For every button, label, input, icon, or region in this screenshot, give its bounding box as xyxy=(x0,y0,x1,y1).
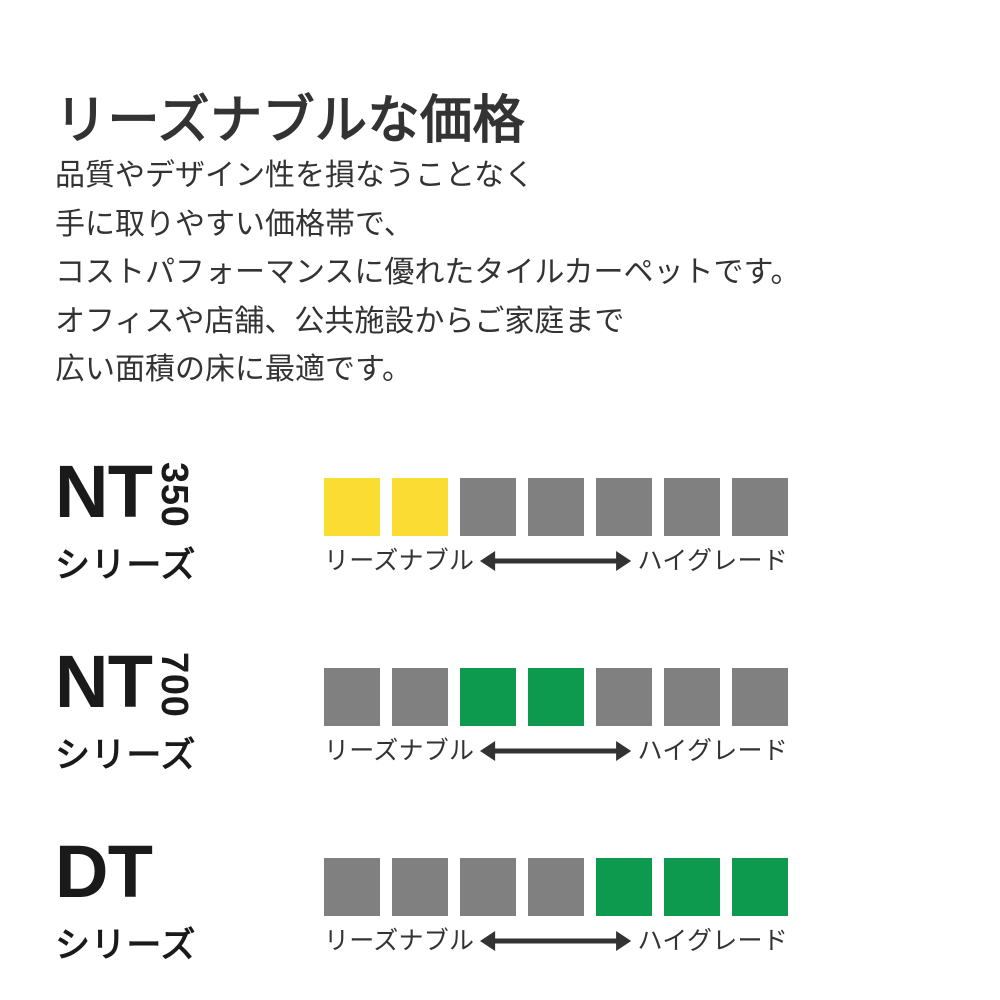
description-line-3: コストパフォーマンスに優れたタイルカーペットです。 xyxy=(55,249,801,298)
swatch-3 xyxy=(460,478,516,536)
scale-left-label: リーズナブル xyxy=(324,929,474,954)
grade-swatch-strip xyxy=(324,858,788,916)
grade-scale-caption: リーズナブル ハイグレード xyxy=(324,734,788,768)
series-sub-label: シリーズ xyxy=(55,548,196,583)
swatch-7 xyxy=(732,478,788,536)
scale-right-label: ハイグレード xyxy=(637,549,788,574)
infographic-page: リーズナブルな価格 品質やデザイン性を損なうことなく 手に取りやすい価格帯で、 … xyxy=(0,0,1000,1000)
series-label-nt350: NT 350 シリーズ xyxy=(55,460,305,590)
series-label-dt: DT シリーズ xyxy=(55,840,305,970)
swatch-7 xyxy=(732,858,788,916)
series-row-nt350: NT 350 シリーズ リーズナブル ハイグレード xyxy=(0,460,1000,590)
grade-swatch-strip xyxy=(324,668,788,726)
series-sub-label: シリーズ xyxy=(55,928,196,963)
double-arrow-horizontal-icon xyxy=(480,550,631,572)
description-text: 品質やデザイン性を損なうことなく 手に取りやすい価格帯で、 コストパフォーマンス… xyxy=(55,152,801,395)
swatch-2 xyxy=(392,478,448,536)
series-row-dt: DT シリーズ リーズナブル ハイグレード xyxy=(0,840,1000,970)
swatch-4 xyxy=(528,858,584,916)
swatch-1 xyxy=(324,478,380,536)
series-code-dt: DT xyxy=(55,840,152,914)
series-code-nt700: NT 700 xyxy=(55,650,193,724)
double-arrow-horizontal-icon xyxy=(480,740,631,762)
scale-right-label: ハイグレード xyxy=(637,739,788,764)
swatch-3 xyxy=(460,858,516,916)
swatch-7 xyxy=(732,668,788,726)
description-line-4: オフィスや店舗、公共施設からご家庭まで xyxy=(55,298,801,347)
series-code-main: NT xyxy=(55,650,152,714)
description-line-1: 品質やデザイン性を損なうことなく xyxy=(55,152,801,201)
double-arrow-horizontal-icon xyxy=(480,930,631,952)
swatch-4 xyxy=(528,478,584,536)
scale-left-label: リーズナブル xyxy=(324,549,474,574)
swatch-1 xyxy=(324,668,380,726)
grade-scale-caption: リーズナブル ハイグレード xyxy=(324,544,788,578)
swatch-2 xyxy=(392,858,448,916)
description-line-2: 手に取りやすい価格帯で、 xyxy=(55,201,801,250)
series-code-number: 700 xyxy=(155,652,193,724)
series-row-nt700: NT 700 シリーズ リーズナブル ハイグレード xyxy=(0,650,1000,780)
series-code-nt350: NT 350 xyxy=(55,460,193,534)
scale-right-label: ハイグレード xyxy=(637,929,788,954)
series-label-nt700: NT 700 シリーズ xyxy=(55,650,305,780)
swatch-6 xyxy=(664,858,720,916)
grade-scale-caption: リーズナブル ハイグレード xyxy=(324,924,788,958)
description-line-5: 広い面積の床に最適です。 xyxy=(55,346,801,395)
swatch-2 xyxy=(392,668,448,726)
swatch-5 xyxy=(596,478,652,536)
swatch-4 xyxy=(528,668,584,726)
series-code-main: DT xyxy=(55,840,152,904)
grade-swatch-strip xyxy=(324,478,788,536)
series-sub-label: シリーズ xyxy=(55,738,196,773)
swatch-6 xyxy=(664,478,720,536)
swatch-3 xyxy=(460,668,516,726)
swatch-1 xyxy=(324,858,380,916)
swatch-5 xyxy=(596,858,652,916)
page-title: リーズナブルな価格 xyxy=(55,95,525,147)
swatch-5 xyxy=(596,668,652,726)
swatch-6 xyxy=(664,668,720,726)
scale-left-label: リーズナブル xyxy=(324,739,474,764)
series-code-main: NT xyxy=(55,460,152,524)
series-code-number: 350 xyxy=(155,462,193,534)
